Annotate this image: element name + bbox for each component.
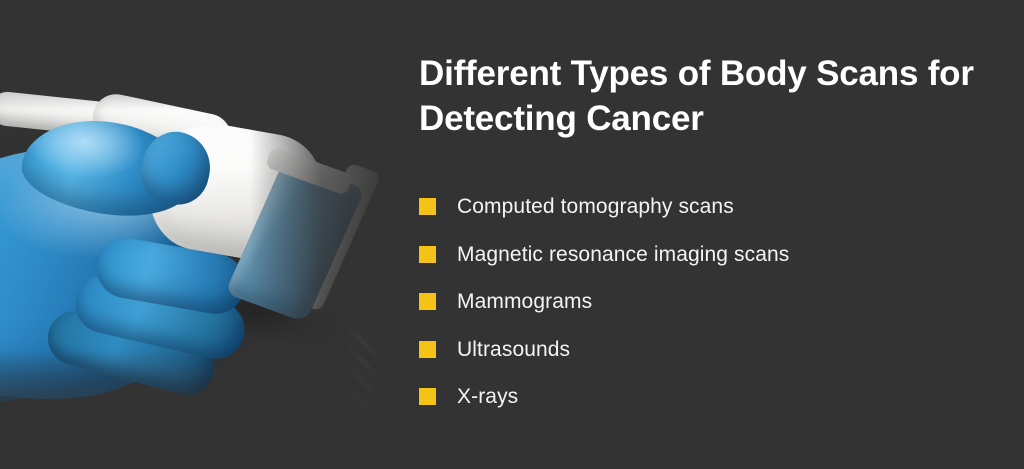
list-item: Mammograms [419,278,979,326]
ultrasound-probe-photo [0,0,400,469]
square-bullet-icon [419,198,436,215]
page-title: Different Types of Body Scans for Detect… [419,52,979,142]
infographic-banner: Different Types of Body Scans for Detect… [0,0,1024,469]
list-item-label: Magnetic resonance imaging scans [457,244,789,265]
square-bullet-icon [419,341,436,358]
square-bullet-icon [419,246,436,263]
list-item: Computed tomography scans [419,183,979,231]
content-panel: Different Types of Body Scans for Detect… [419,0,999,469]
list-item-label: X-rays [457,386,518,407]
list-item-label: Computed tomography scans [457,196,734,217]
list-item: Ultrasounds [419,326,979,374]
list-item-label: Ultrasounds [457,339,570,360]
square-bullet-icon [419,388,436,405]
scan-types-list: Computed tomography scans Magnetic reson… [419,183,979,421]
list-item: Magnetic resonance imaging scans [419,231,979,279]
list-item-label: Mammograms [457,291,592,312]
photo-fade-right [250,0,400,469]
square-bullet-icon [419,293,436,310]
list-item: X-rays [419,373,979,421]
